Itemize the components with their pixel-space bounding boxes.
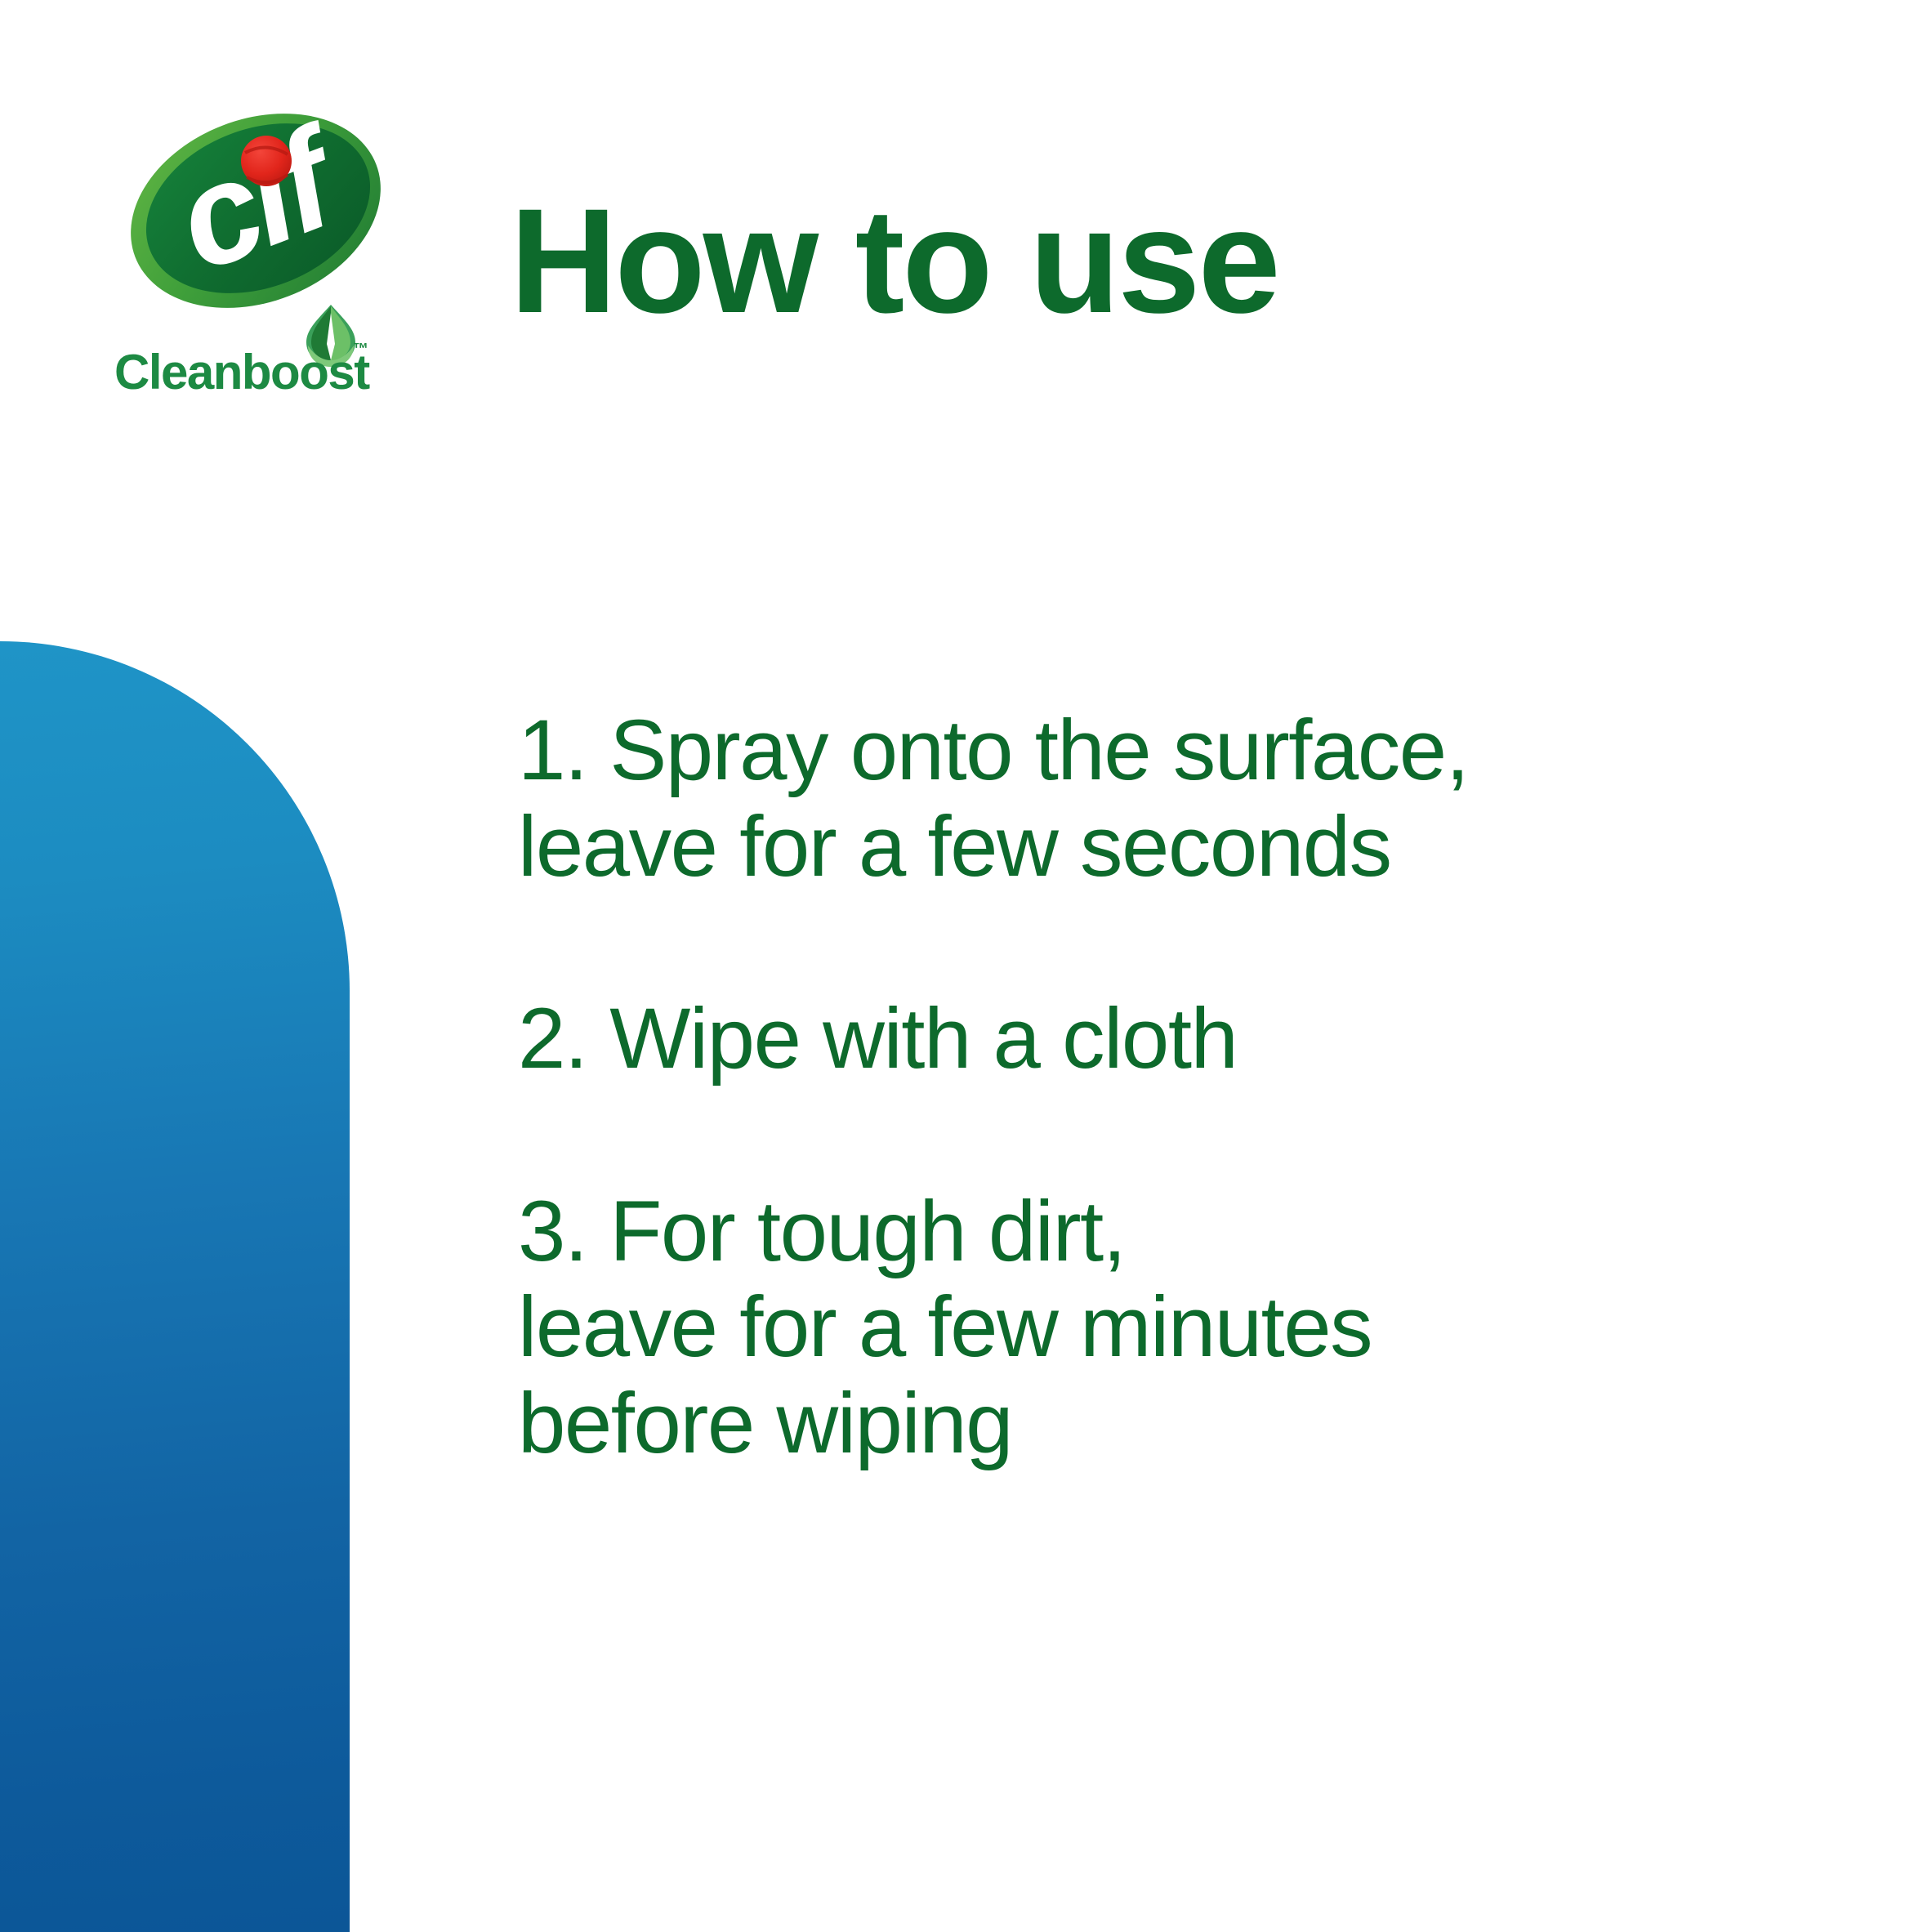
how-to-use-steps: 1. Spray onto the surface, leave for a f… xyxy=(518,703,1792,1472)
page-title: How to use xyxy=(510,186,1278,335)
cif-logo-icon: cif xyxy=(121,102,390,319)
trademark-symbol: ™ xyxy=(353,341,368,359)
cleanboost-lockup: Cleanboost ™ xyxy=(121,313,390,403)
decorative-blue-panel xyxy=(0,641,350,1932)
brand-logo-lockup: cif Cleanboost ™ xyxy=(121,102,399,413)
step-item-3: 3. For tough dirt, leave for a few minut… xyxy=(518,1184,1792,1472)
step-item-1: 1. Spray onto the surface, leave for a f… xyxy=(518,703,1792,895)
cleanboost-wordmark: Cleanboost xyxy=(114,344,369,400)
step-item-2: 2. Wipe with a cloth xyxy=(518,991,1792,1087)
